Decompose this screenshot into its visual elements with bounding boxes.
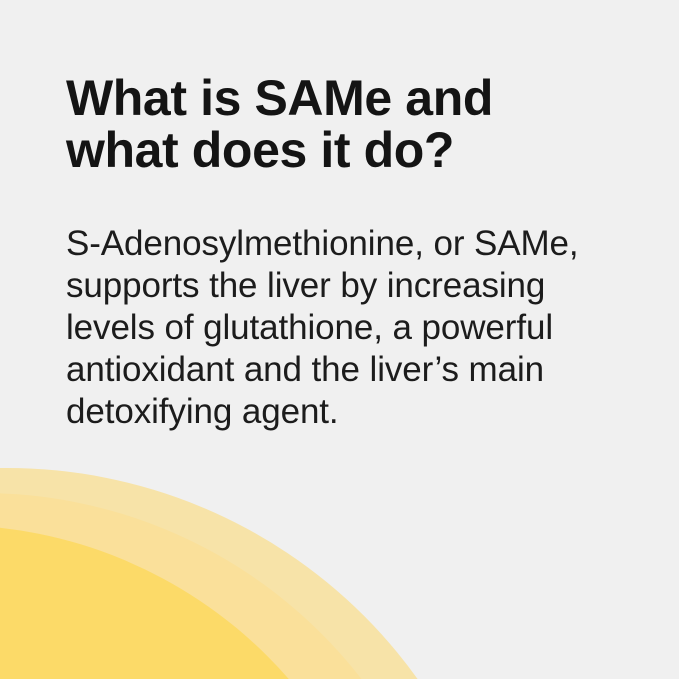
page-title: What is SAMe and what does it do?: [66, 72, 636, 176]
body-paragraph: S-Adenosylmethionine, or SAMe, supports …: [66, 176, 636, 433]
outer-arc-shape: [0, 468, 512, 679]
info-card: What is SAMe and what does it do? S-Aden…: [0, 0, 679, 679]
text-content: What is SAMe and what does it do? S-Aden…: [66, 72, 636, 433]
inner-arc-shape: [0, 525, 399, 679]
middle-arc-shape: [0, 493, 462, 679]
